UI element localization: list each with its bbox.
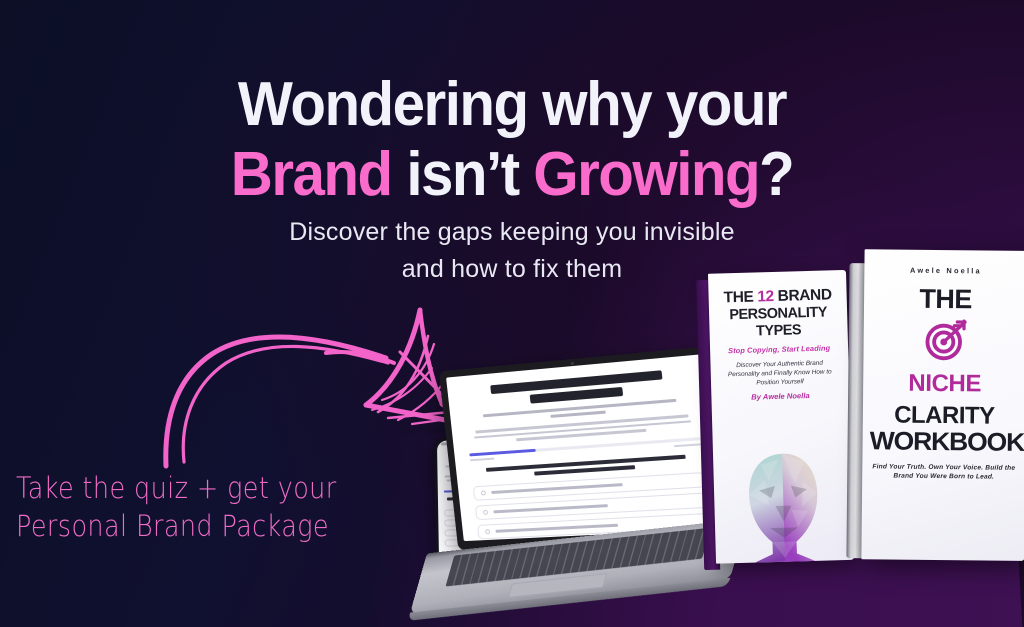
book1-tagline: Stop Copying, Start Leading	[719, 343, 839, 355]
radio-icon	[483, 510, 488, 515]
book-brand-personality-types: THE 12 BRAND PERSONALITY TYPES Stop Copy…	[696, 270, 854, 564]
book1-title-line-2: PERSONALITY TYPES	[718, 304, 839, 341]
book2-word-workbook: WORKBOOK	[870, 428, 1019, 457]
book2-tagline: Find Your Truth. Own Your Voice. Build t…	[872, 462, 1015, 482]
cta-line-2: Personal Brand Package	[16, 508, 337, 546]
book1-title-line-1: THE 12 BRAND	[717, 286, 837, 306]
book2-cover: Awele Noella THE NICHE CLARITY WORKBOOK …	[861, 249, 1024, 561]
book-niche-clarity-workbook: Awele Noella THE NICHE CLARITY WORKBOOK …	[846, 249, 1024, 561]
radio-icon	[485, 529, 490, 534]
quiz-subtitle-2	[550, 411, 606, 418]
laptop-lid	[439, 346, 736, 550]
page-title: Wondering why your Brand isn’t Growing?	[0, 70, 1024, 210]
book1-cover: THE 12 BRAND PERSONALITY TYPES Stop Copy…	[708, 270, 854, 564]
book2-word-niche: NICHE	[873, 370, 1016, 397]
quiz-paragraph-line	[517, 429, 646, 441]
low-poly-face-illustration-icon	[734, 448, 833, 563]
book2-word-the: THE	[874, 283, 1017, 314]
promo-banner: Wondering why your Brand isn’t Growing? …	[0, 0, 1024, 627]
book2-author: Awele Noella	[874, 265, 1017, 275]
book1-byline: By Awele Noella	[720, 390, 840, 402]
laptop-camera-icon	[571, 362, 574, 365]
headline-word-growing: Growing	[533, 140, 759, 209]
radio-icon	[481, 491, 486, 496]
headline-word-brand: Brand	[231, 140, 392, 209]
headline-word-isnt: isn’t	[392, 140, 534, 209]
headline-question-mark: ?	[759, 140, 793, 209]
cta-line-1: Take the quiz + get your	[16, 470, 337, 508]
headline-line-1: Wondering why your	[31, 70, 994, 140]
laptop-screen[interactable]	[446, 354, 727, 541]
headline-line-2: Brand isn’t Growing?	[31, 140, 994, 210]
book1-title-number: 12	[757, 288, 774, 305]
target-bullseye-arrow-icon	[922, 317, 968, 363]
book2-word-clarity: CLARITY	[873, 401, 1016, 429]
cta-handwritten-note: Take the quiz + get your Personal Brand …	[16, 470, 337, 546]
book1-description: Discover Your Authentic Brand Personalit…	[719, 358, 840, 388]
subheadline-line-1: Discover the gaps keeping you invisible	[0, 214, 1024, 251]
laptop-mockup[interactable]	[416, 358, 746, 598]
